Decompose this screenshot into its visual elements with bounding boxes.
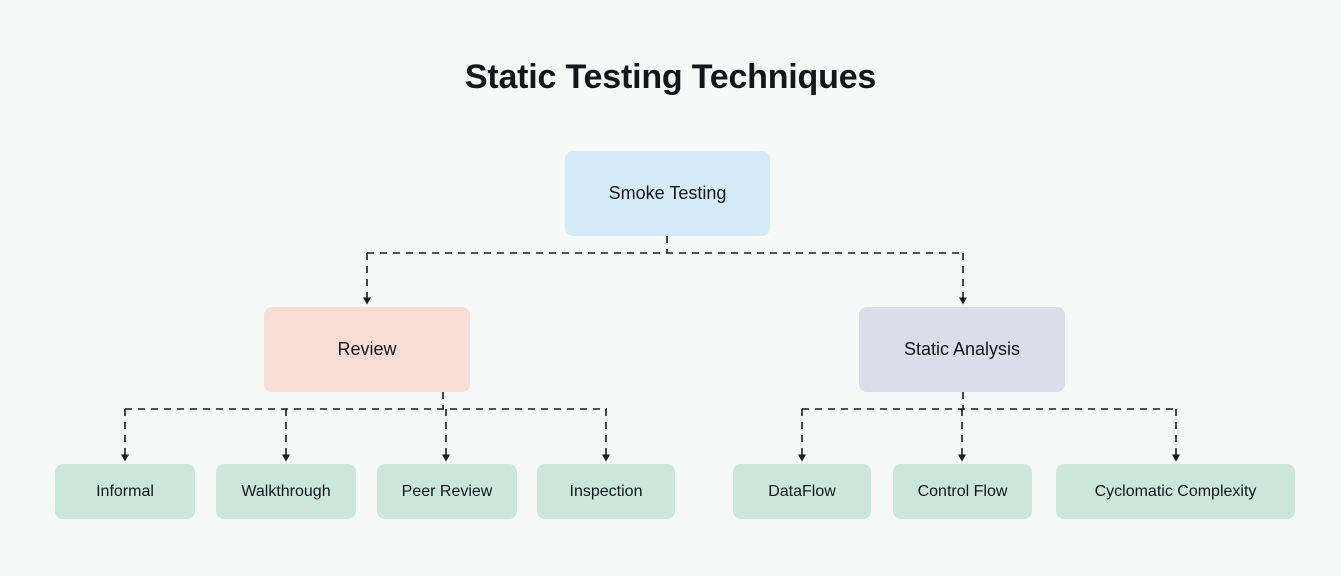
node-label: Control Flow <box>918 482 1008 501</box>
node-peer-review[interactable]: Peer Review <box>377 464 517 519</box>
node-dataflow[interactable]: DataFlow <box>733 464 871 519</box>
node-label: Review <box>337 339 396 361</box>
node-review[interactable]: Review <box>264 307 470 392</box>
node-label: Cyclomatic Complexity <box>1095 482 1257 501</box>
node-label: Walkthrough <box>241 482 330 501</box>
node-label: Inspection <box>570 482 643 501</box>
page-title: Static Testing Techniques <box>0 58 1341 97</box>
node-label: Smoke Testing <box>609 183 727 205</box>
node-inspection[interactable]: Inspection <box>537 464 675 519</box>
node-walkthrough[interactable]: Walkthrough <box>216 464 356 519</box>
node-smoke-testing[interactable]: Smoke Testing <box>565 151 770 236</box>
diagram-canvas: Static Testing Techniques <box>0 0 1341 576</box>
node-label: Informal <box>96 482 154 501</box>
node-cyclomatic-complexity[interactable]: Cyclomatic Complexity <box>1056 464 1295 519</box>
node-label: Peer Review <box>402 482 493 501</box>
node-control-flow[interactable]: Control Flow <box>893 464 1032 519</box>
node-informal[interactable]: Informal <box>55 464 195 519</box>
node-static-analysis[interactable]: Static Analysis <box>859 307 1065 392</box>
node-label: Static Analysis <box>904 339 1020 361</box>
node-label: DataFlow <box>768 482 836 501</box>
